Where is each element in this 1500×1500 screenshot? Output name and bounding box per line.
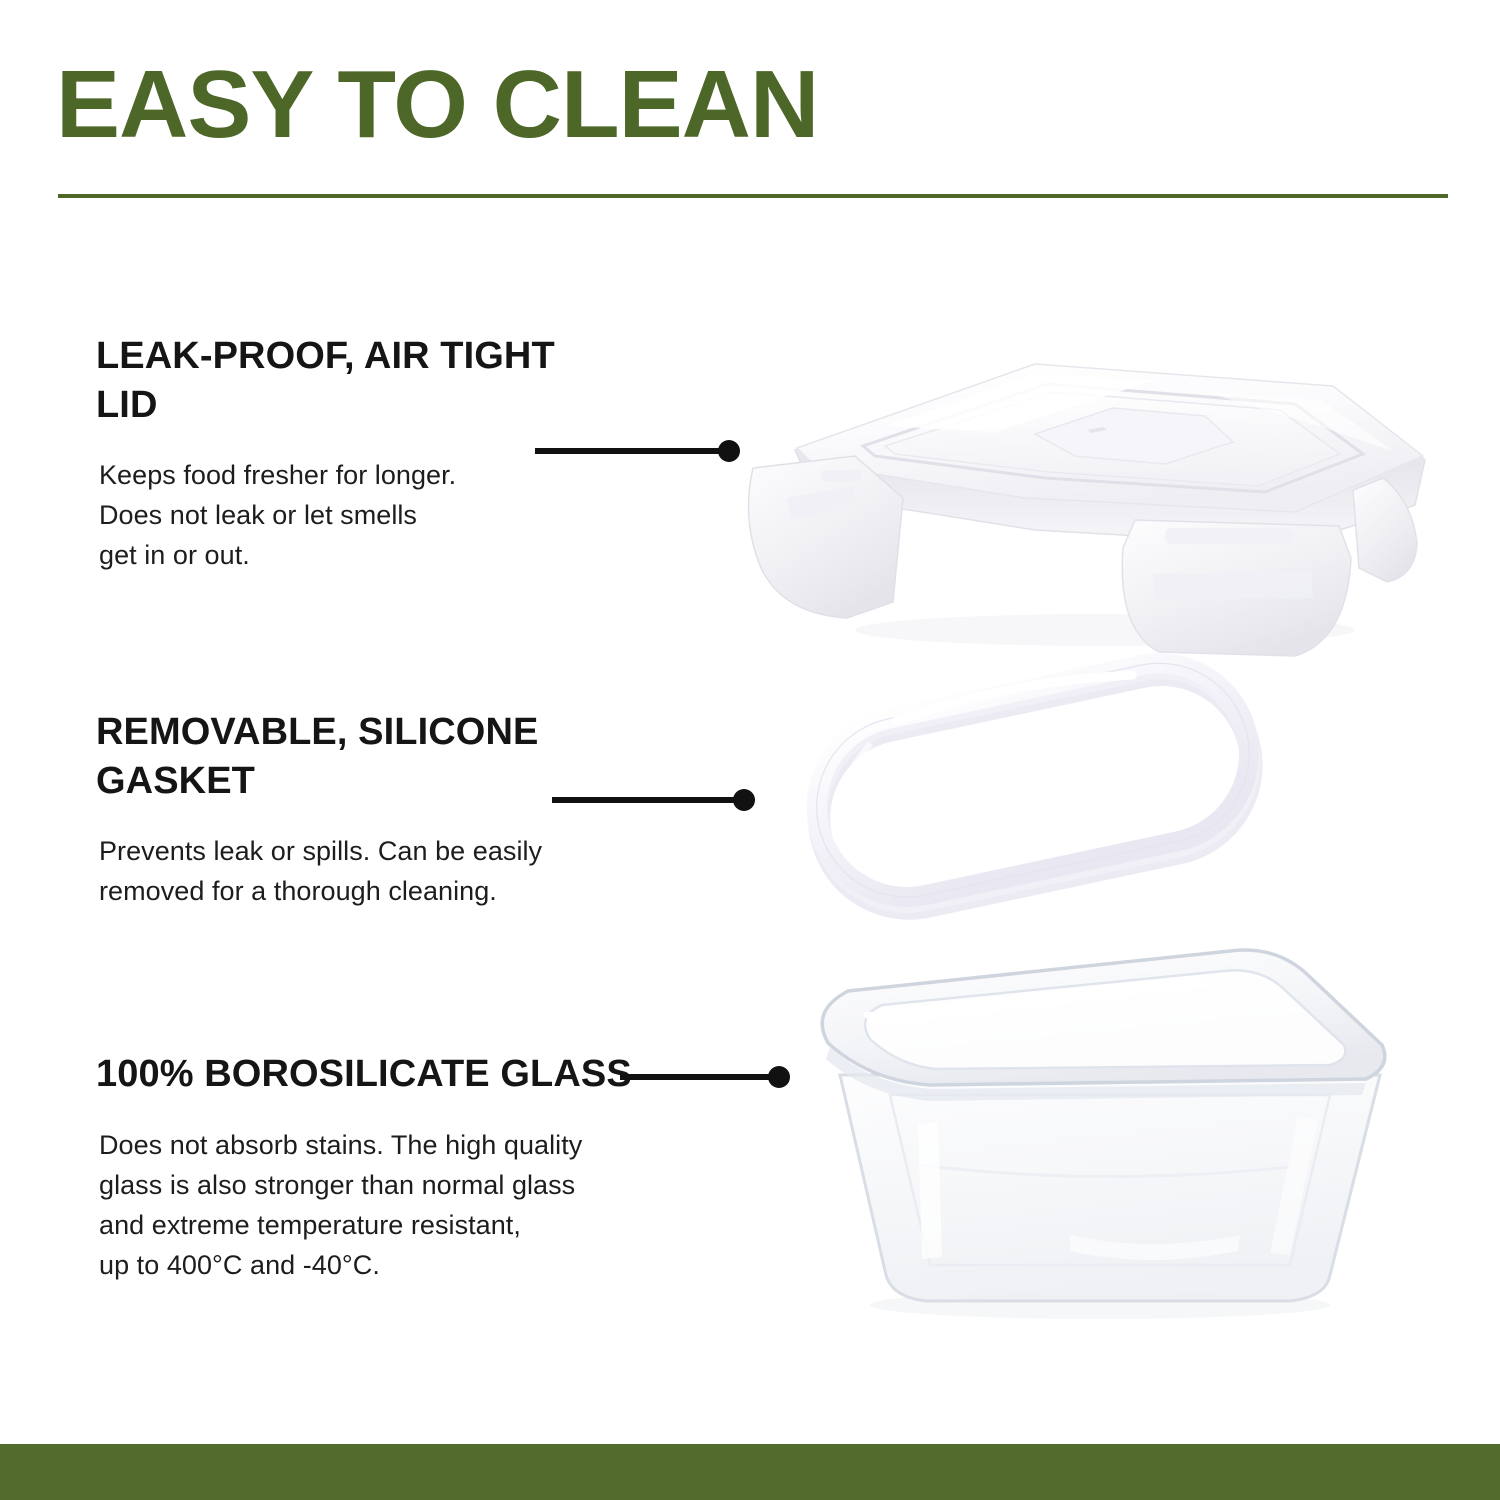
feature-block-borosilicate-glass: 100% BOROSILICATE GLASS Does not absorb … — [96, 1050, 676, 1285]
leader-line-bar — [535, 448, 725, 454]
feature-body-silicone-gasket: Prevents leak or spills. Can be easily r… — [99, 831, 676, 911]
feature-body-line: removed for a thorough cleaning. — [99, 871, 676, 911]
leader-line-lid — [535, 440, 740, 462]
leader-line-glass — [620, 1066, 792, 1088]
feature-body-leak-proof-lid: Keeps food fresher for longer. Does not … — [99, 455, 566, 575]
silicone-gasket-image — [775, 650, 1295, 940]
plastic-lid-image — [735, 330, 1455, 660]
feature-body-line: glass is also stronger than normal glass — [99, 1165, 676, 1205]
footer-accent-bar — [0, 1444, 1500, 1500]
feature-body-line: Keeps food fresher for longer. — [99, 455, 566, 495]
feature-body-line: up to 400°C and -40°C. — [99, 1245, 676, 1285]
borosilicate-glass-container-image — [770, 935, 1410, 1325]
title-divider-rule — [58, 194, 1448, 198]
leader-line-bar — [620, 1074, 775, 1080]
feature-block-leak-proof-lid: LEAK-PROOF, AIR TIGHT LID Keeps food fre… — [96, 332, 566, 575]
feature-body-line: Does not absorb stains. The high quality — [99, 1125, 676, 1165]
page-title: EASY TO CLEAN — [56, 57, 818, 153]
infographic-page: EASY TO CLEAN LEAK-PROOF, AIR TIGHT LID … — [0, 0, 1500, 1500]
feature-heading-leak-proof-lid: LEAK-PROOF, AIR TIGHT LID — [96, 332, 566, 430]
leader-line-dot-icon — [733, 789, 755, 811]
feature-body-line: Prevents leak or spills. Can be easily — [99, 831, 676, 871]
feature-body-line: get in or out. — [99, 535, 566, 575]
feature-body-borosilicate-glass: Does not absorb stains. The high quality… — [99, 1125, 676, 1285]
leader-line-bar — [552, 797, 740, 803]
feature-heading-borosilicate-glass: 100% BOROSILICATE GLASS — [96, 1050, 676, 1099]
feature-body-line: and extreme temperature resistant, — [99, 1205, 676, 1245]
leader-line-gasket — [552, 789, 757, 811]
feature-body-line: Does not leak or let smells — [99, 495, 566, 535]
